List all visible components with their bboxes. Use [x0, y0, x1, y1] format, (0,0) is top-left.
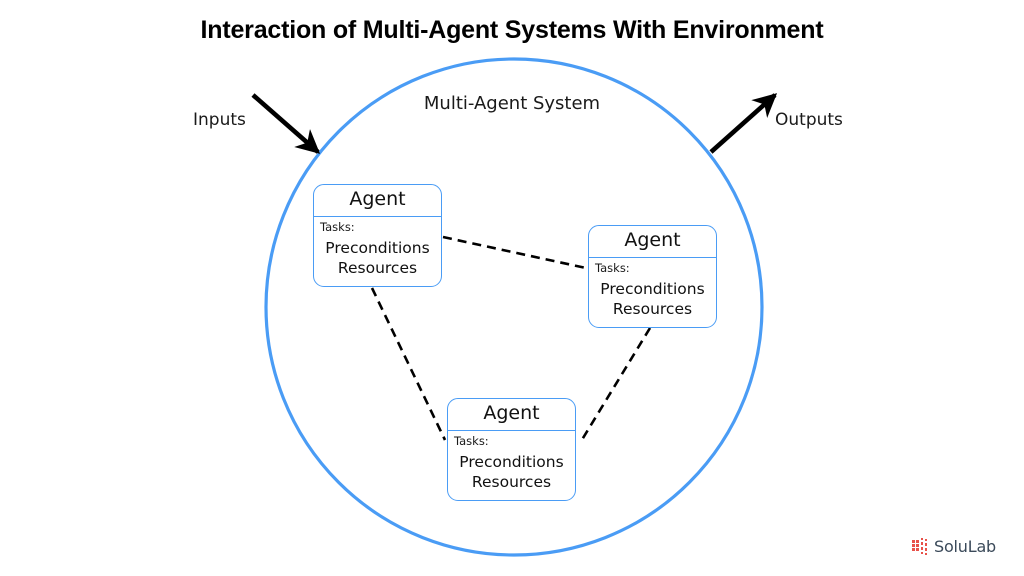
agent-item-resources: Resources: [448, 473, 575, 493]
solulab-logo: SoluLab: [912, 538, 996, 555]
agent-item-resources: Resources: [589, 300, 716, 320]
agent-node[interactable]: Agent Tasks: Preconditions Resources: [588, 225, 717, 328]
inputs-label: Inputs: [193, 110, 246, 130]
agent-title: Agent: [589, 226, 716, 258]
connector-agent2-agent3: [580, 328, 650, 443]
agent-node[interactable]: Agent Tasks: Preconditions Resources: [447, 398, 576, 501]
agent-item-resources: Resources: [314, 259, 441, 279]
agent-item-preconditions: Preconditions: [314, 239, 441, 259]
agent-body: Tasks: Preconditions Resources: [314, 217, 441, 286]
agent-title: Agent: [314, 185, 441, 217]
agent-tasks-label: Tasks:: [589, 261, 716, 277]
agent-body: Tasks: Preconditions Resources: [448, 431, 575, 500]
connector-agent1-agent3: [372, 288, 445, 440]
connector-agent1-agent2: [443, 237, 586, 268]
agent-tasks-label: Tasks:: [314, 220, 441, 236]
agent-node[interactable]: Agent Tasks: Preconditions Resources: [313, 184, 442, 287]
outputs-label: Outputs: [775, 110, 843, 130]
agent-body: Tasks: Preconditions Resources: [589, 258, 716, 327]
solulab-mark-icon: [912, 538, 929, 555]
agent-title: Agent: [448, 399, 575, 431]
agent-item-preconditions: Preconditions: [448, 453, 575, 473]
agent-item-preconditions: Preconditions: [589, 280, 716, 300]
system-boundary-label: Multi-Agent System: [0, 93, 1024, 114]
solulab-wordmark: SoluLab: [934, 539, 996, 555]
agent-tasks-label: Tasks:: [448, 434, 575, 450]
